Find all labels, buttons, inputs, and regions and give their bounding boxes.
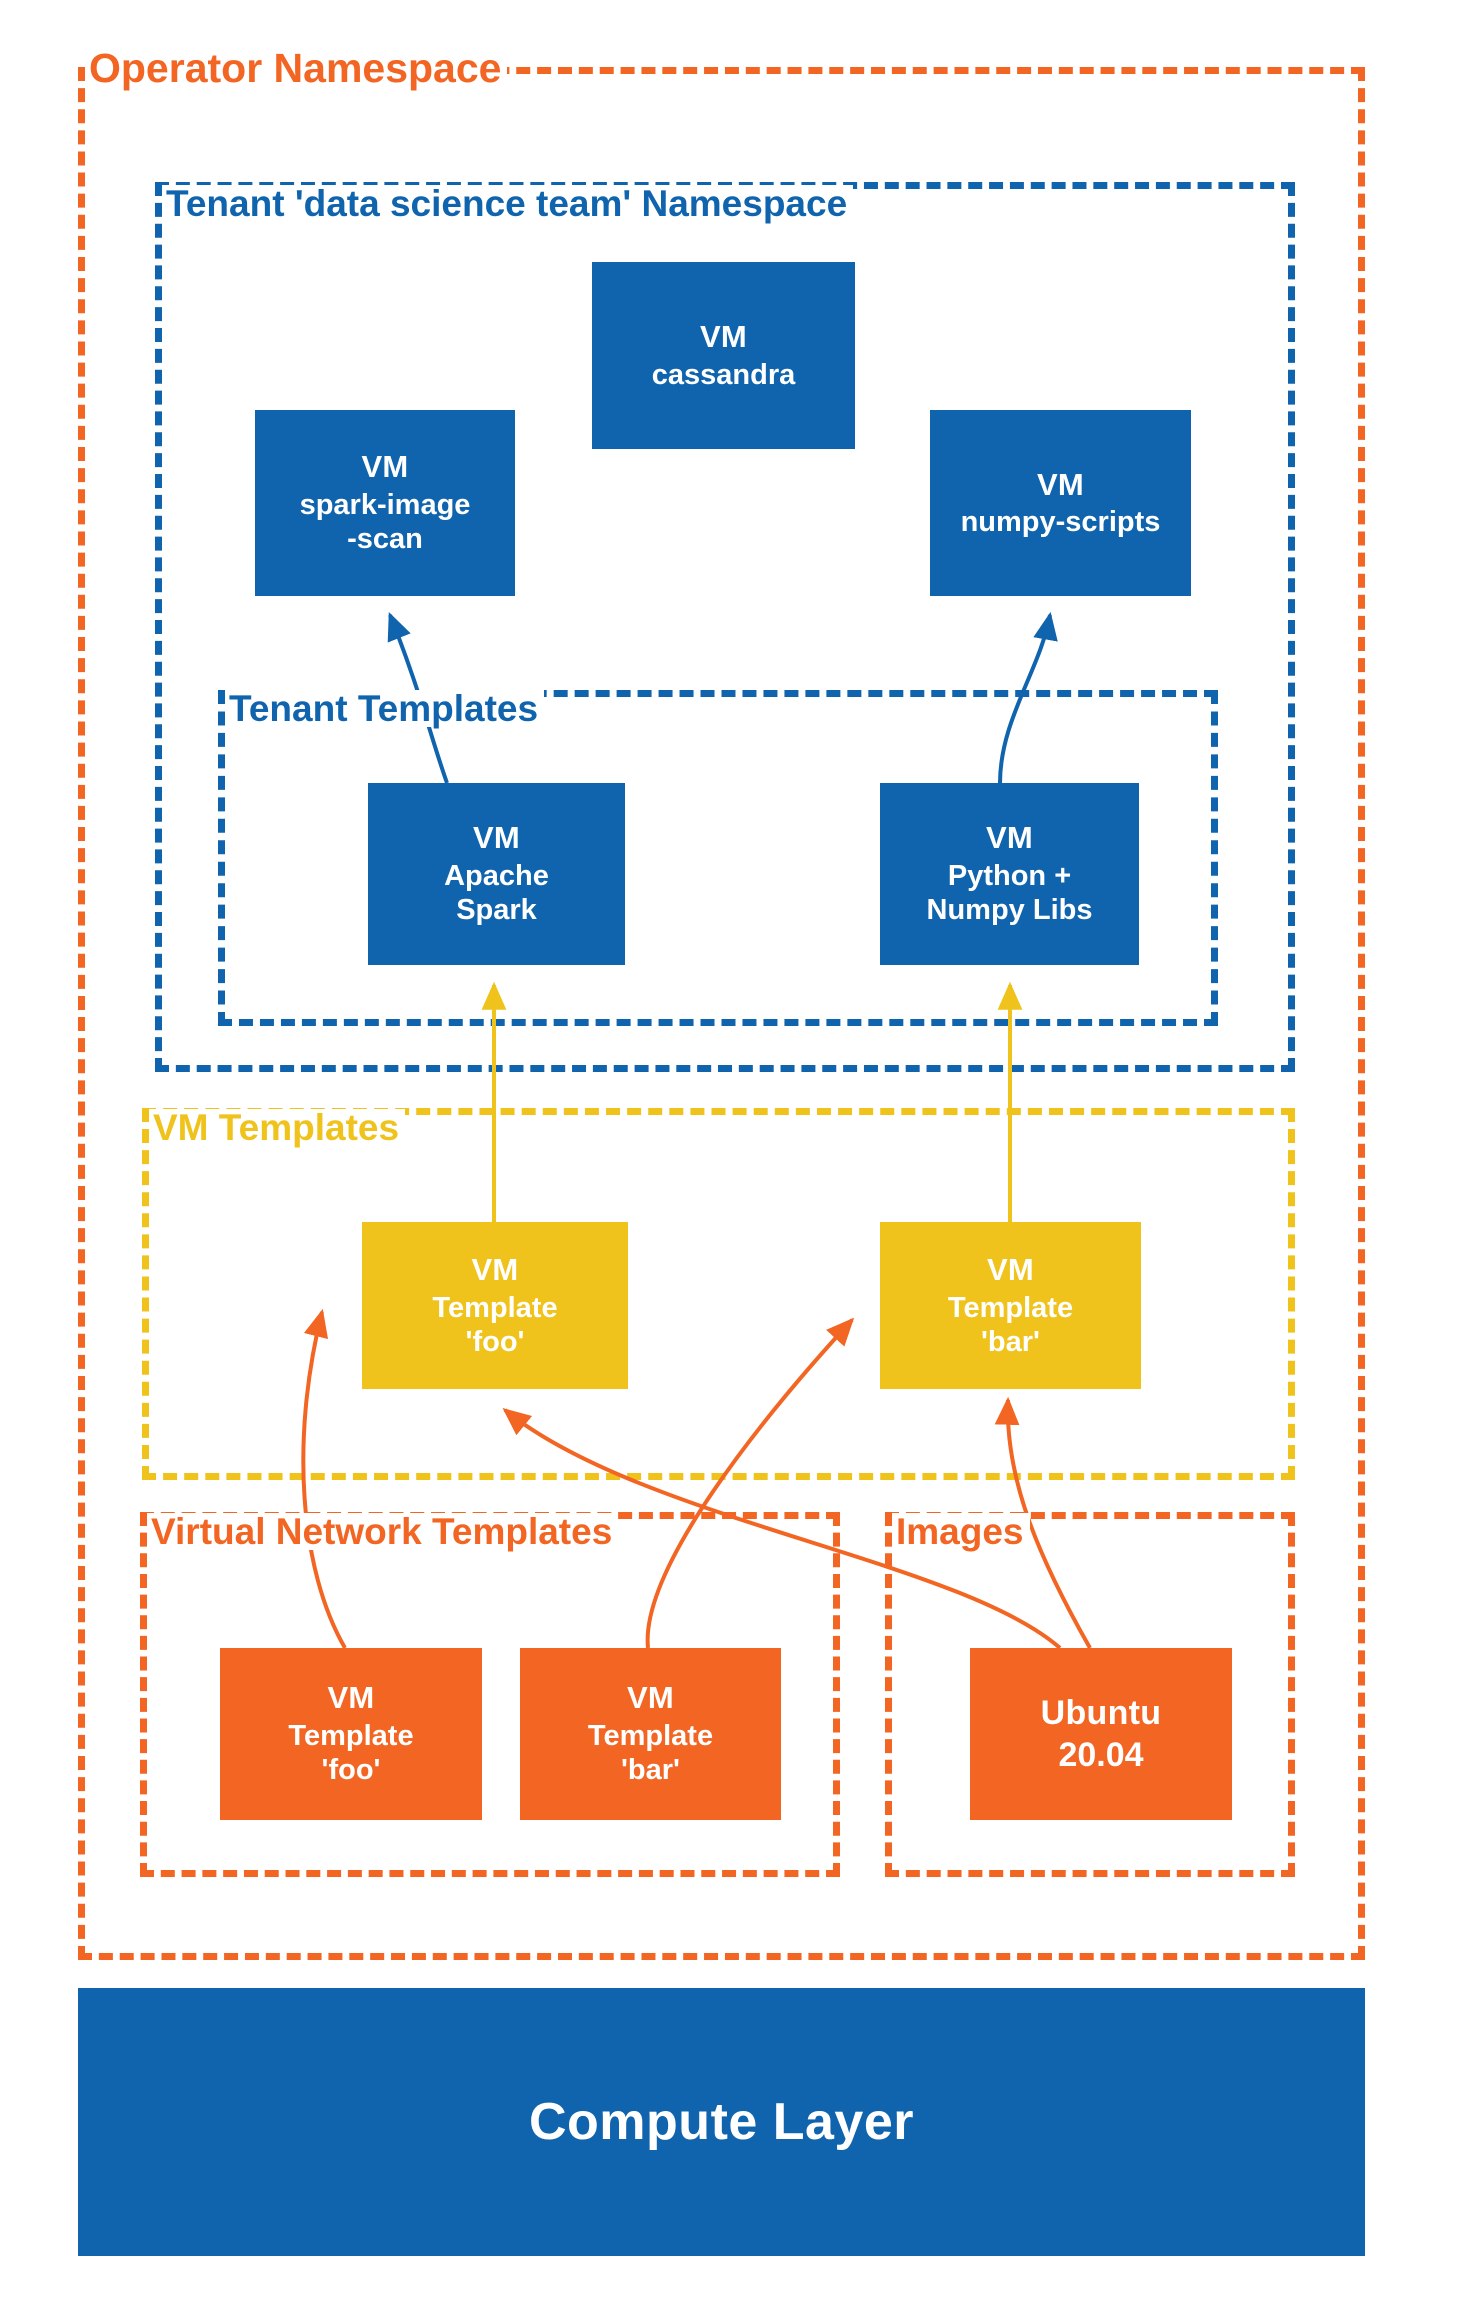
group-label-virtual-network-templates: Virtual Network Templates [147,1513,618,1550]
node-kind-label: VM [700,319,747,356]
node-kind-label: VM [987,1252,1034,1289]
node-name-label: Python + Numpy Libs [927,859,1093,927]
node-kind-label: VM [986,820,1033,857]
node-name-label: spark-image -scan [300,488,471,556]
node-name-label: Template 'foo' [288,1719,413,1787]
node-kind-label: VM [327,1680,374,1717]
diagram-canvas: Operator Namespace Tenant 'data science … [0,0,1457,2316]
node-kind-label: VM [471,1252,518,1289]
compute-layer-bar: Compute Layer [78,1988,1365,2256]
node-kind-label: VM [473,820,520,857]
node-vm-template-bar-yellow[interactable]: VM Template 'bar' [880,1222,1141,1389]
node-kind-label: VM [627,1680,674,1717]
node-vm-python-numpy-libs[interactable]: VM Python + Numpy Libs [880,783,1139,965]
node-name-label: numpy-scripts [961,505,1161,539]
group-label-operator-namespace: Operator Namespace [85,48,507,89]
node-kind-label: VM [1037,467,1084,504]
node-vm-template-foo-orange[interactable]: VM Template 'foo' [220,1648,482,1820]
node-vm-numpy-scripts[interactable]: VM numpy-scripts [930,410,1191,596]
group-label-tenant-namespace: Tenant 'data science team' Namespace [162,185,853,222]
node-name-label: Template 'foo' [432,1291,557,1359]
node-vm-template-bar-orange[interactable]: VM Template 'bar' [520,1648,781,1820]
node-vm-cassandra[interactable]: VM cassandra [592,262,855,449]
node-vm-spark-image-scan[interactable]: VM spark-image -scan [255,410,515,596]
node-image-ubuntu-2004[interactable]: Ubuntu 20.04 [970,1648,1232,1820]
group-label-tenant-templates: Tenant Templates [225,690,544,727]
node-name-label: Template 'bar' [588,1719,713,1787]
node-name-label: Apache Spark [444,859,549,927]
compute-layer-label: Compute Layer [529,2092,914,2152]
node-kind-label: VM [361,449,408,486]
node-kind-label: Ubuntu [1041,1693,1162,1733]
node-name-label: Template 'bar' [948,1291,1073,1359]
group-label-vm-templates: VM Templates [149,1109,405,1146]
node-vm-template-foo-yellow[interactable]: VM Template 'foo' [362,1222,628,1389]
node-name-label: cassandra [652,358,796,392]
group-label-images: Images [892,1513,1030,1550]
node-name-label: 20.04 [1058,1735,1143,1775]
node-vm-apache-spark[interactable]: VM Apache Spark [368,783,625,965]
